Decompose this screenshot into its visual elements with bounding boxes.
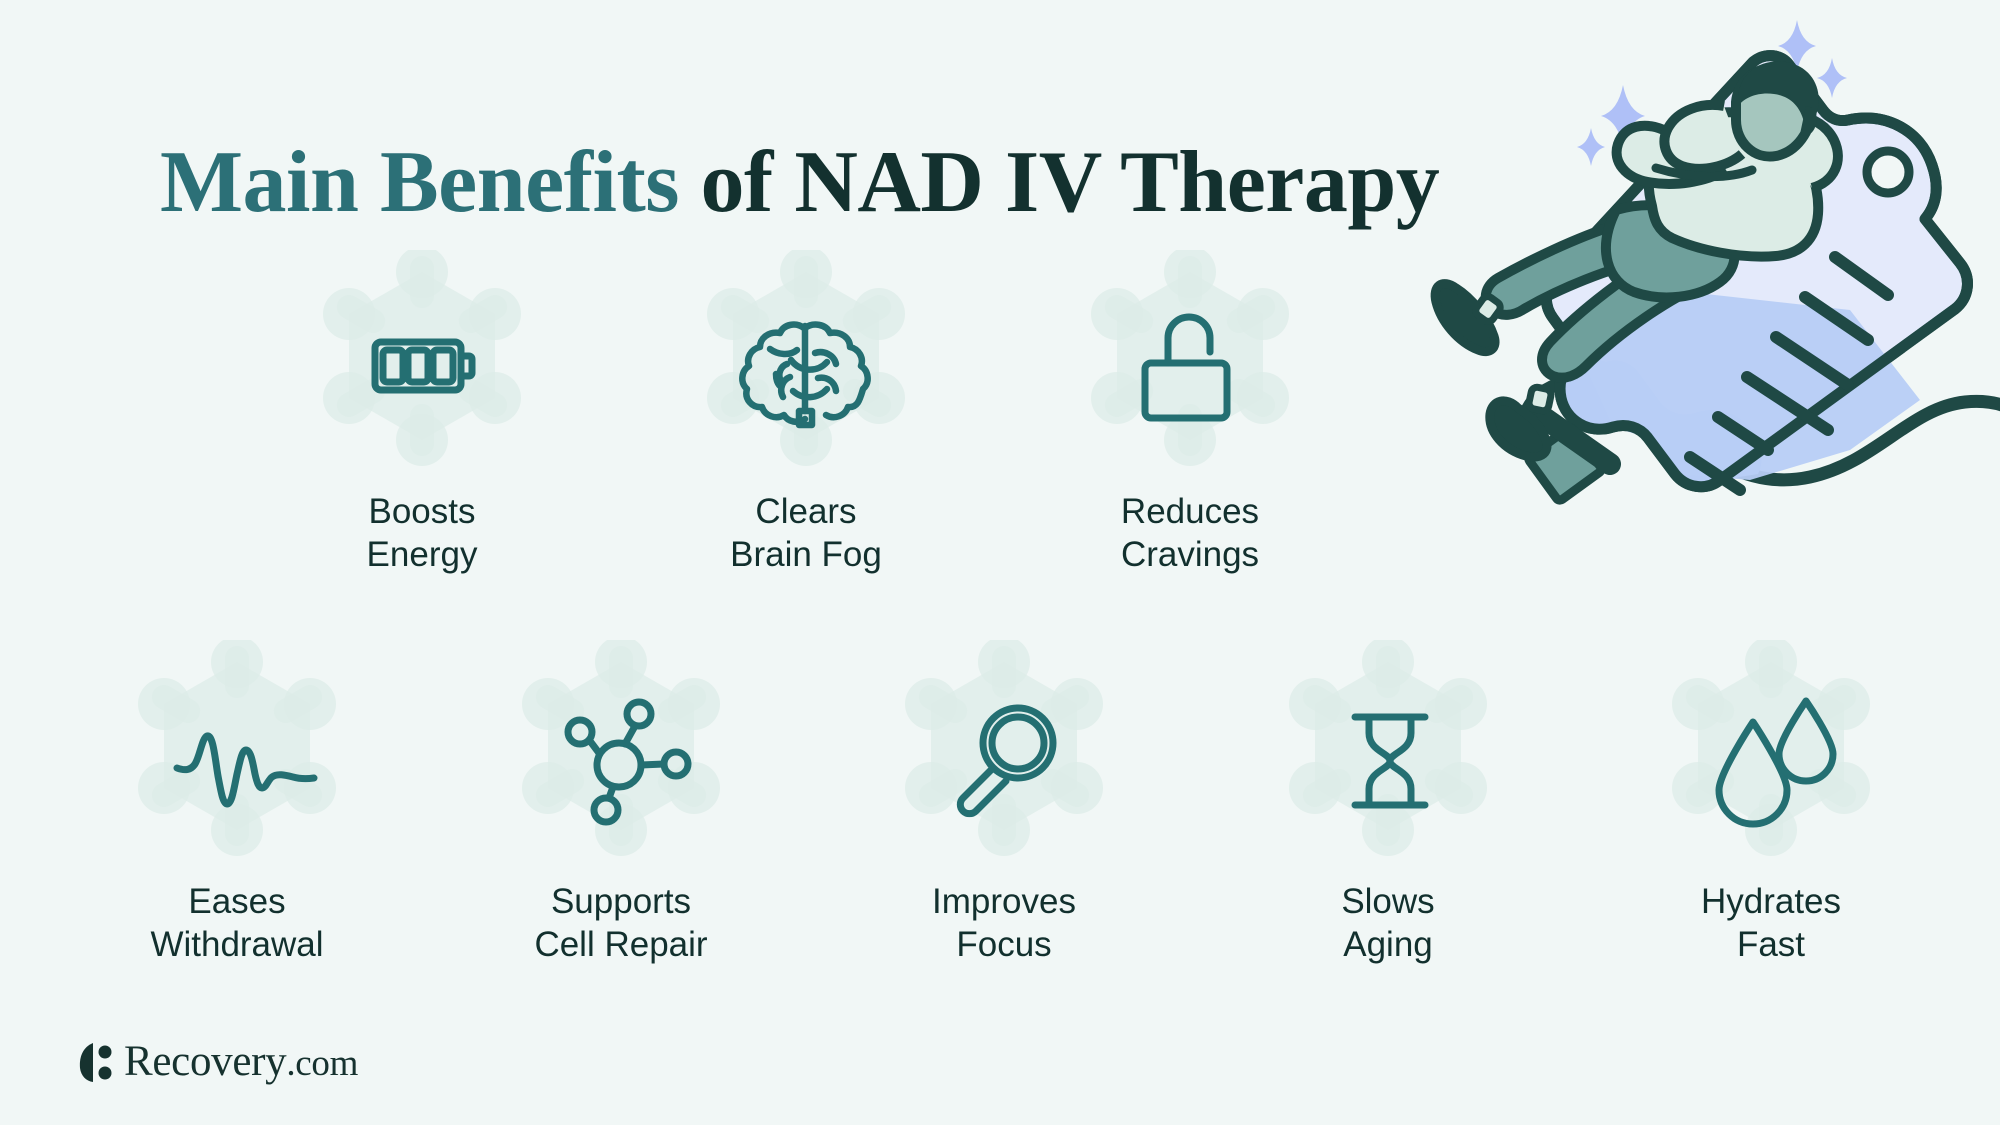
benefit-label-line1: Eases: [188, 882, 285, 921]
benefit-label: Hydrates Fast: [1621, 880, 1921, 966]
benefit-label-line1: Hydrates: [1701, 882, 1841, 921]
benefit-label: Reduces Cravings: [1040, 490, 1340, 576]
title-plain: of NAD IV Therapy: [679, 134, 1439, 231]
benefit-card-reduces: Reduces Cravings: [1040, 250, 1340, 576]
unlock-icon-badge: [1075, 250, 1305, 480]
illustration-person-relaxing-on-iv-bag: [1420, 10, 2000, 530]
water-drops-icon-badge: [1656, 640, 1886, 870]
benefit-card-slows: Slows Aging: [1238, 640, 1538, 966]
magnifier-icon-badge: [889, 640, 1119, 870]
benefit-card-hydrates: Hydrates Fast: [1621, 640, 1921, 966]
molecule-icon-badge: [506, 640, 736, 870]
iv-bag-hole: [1867, 151, 1909, 193]
benefit-card-supports: Supports Cell Repair: [471, 640, 771, 966]
benefit-label-line1: Improves: [932, 882, 1076, 921]
brain-icon-badge: [691, 250, 921, 480]
recovery-dot-com-logo[interactable]: Recovery.com: [78, 1040, 358, 1083]
molecule-badge-shape: [522, 640, 720, 856]
molecule-badge-shape: [138, 640, 336, 856]
molecule-badge-shape: [323, 250, 521, 466]
molecule-badge-shape: [905, 640, 1103, 856]
benefit-label-line2: Withdrawal: [87, 923, 387, 966]
benefit-label-line1: Supports: [551, 882, 691, 921]
battery-icon-badge: [307, 250, 537, 480]
hourglass-icon-badge: [1273, 640, 1503, 870]
pulse-wave-icon-badge: [122, 640, 352, 870]
benefit-label-line2: Cell Repair: [471, 923, 771, 966]
leaf-dot-mark: [78, 1041, 112, 1083]
logo-name: Recovery: [124, 1038, 286, 1085]
logo-tld: .com: [286, 1043, 358, 1084]
infographic-canvas: Main Benefits of NAD IV Therapy: [0, 0, 2000, 1125]
benefit-card-eases: Eases Withdrawal: [87, 640, 387, 966]
benefit-label: Clears Brain Fog: [656, 490, 956, 576]
benefit-label-line2: Cravings: [1040, 533, 1340, 576]
benefit-card-clears: Clears Brain Fog: [656, 250, 956, 576]
benefit-label-line2: Focus: [854, 923, 1154, 966]
benefit-card-boosts: Boosts Energy: [272, 250, 572, 576]
molecule-badge-shape: [1091, 250, 1289, 466]
benefit-label-line2: Brain Fog: [656, 533, 956, 576]
benefit-label: Boosts Energy: [272, 490, 572, 576]
benefit-label: Supports Cell Repair: [471, 880, 771, 966]
page-title: Main Benefits of NAD IV Therapy: [160, 137, 1439, 229]
benefit-label-line2: Aging: [1238, 923, 1538, 966]
logo-wordmark: Recovery.com: [124, 1040, 358, 1083]
molecule-badge-shape: [1289, 640, 1487, 856]
benefit-label: Slows Aging: [1238, 880, 1538, 966]
title-accent: Main Benefits: [160, 134, 679, 231]
benefit-label-line1: Boosts: [369, 492, 476, 531]
benefit-label-line1: Clears: [755, 492, 856, 531]
benefit-label: Eases Withdrawal: [87, 880, 387, 966]
benefit-label-line2: Energy: [272, 533, 572, 576]
benefit-label-line2: Fast: [1621, 923, 1921, 966]
benefit-card-improves: Improves Focus: [854, 640, 1154, 966]
benefit-label: Improves Focus: [854, 880, 1154, 966]
benefit-label-line1: Reduces: [1121, 492, 1259, 531]
benefit-label-line1: Slows: [1341, 882, 1434, 921]
